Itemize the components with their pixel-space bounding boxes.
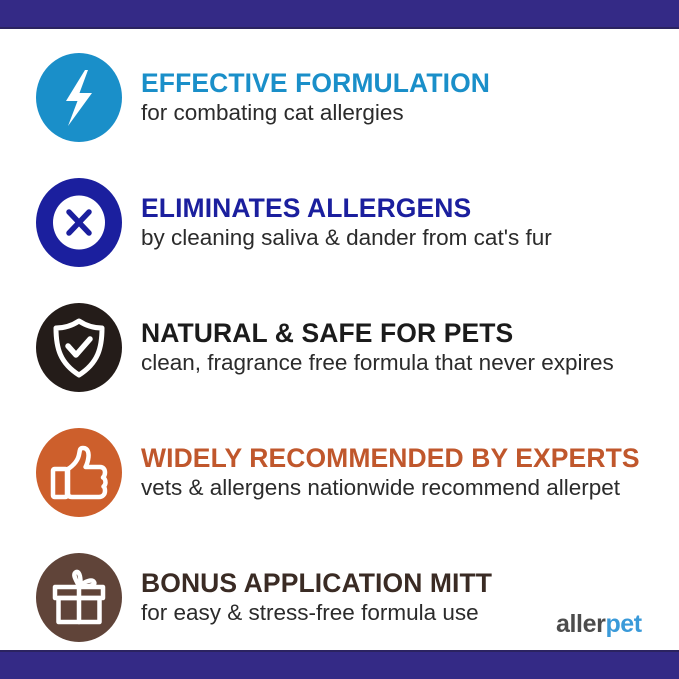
feature-icon-container [0, 410, 122, 535]
feature-row-effective-formulation: EFFECTIVE FORMULATION for combating cat … [0, 35, 679, 160]
feature-icon-container [0, 285, 122, 410]
feature-headline: EFFECTIVE FORMULATION [141, 69, 679, 97]
brand-logo-primary: aller [556, 610, 605, 638]
feature-text-container: WIDELY RECOMMENDED BY EXPERTS vets & all… [122, 444, 679, 501]
brand-logo-secondary: pet [605, 610, 641, 638]
brand-logo: allerpet [556, 612, 642, 637]
feature-headline: WIDELY RECOMMENDED BY EXPERTS [141, 444, 679, 472]
feature-icon-container [0, 35, 122, 160]
top-accent-bar [0, 0, 679, 27]
circle-x-icon [36, 178, 122, 267]
feature-row-natural-and-safe: NATURAL & SAFE FOR PETS clean, fragrance… [0, 285, 679, 410]
feature-row-widely-recommended: WIDELY RECOMMENDED BY EXPERTS vets & all… [0, 410, 679, 535]
bottom-accent-bar [0, 652, 679, 679]
lightning-bolt-icon [36, 53, 122, 142]
feature-icon-container [0, 160, 122, 285]
feature-subline: for combating cat allergies [141, 100, 679, 126]
feature-row-eliminates-allergens: ELIMINATES ALLERGENS by cleaning saliva … [0, 160, 679, 285]
feature-subline: by cleaning saliva & dander from cat's f… [141, 225, 679, 251]
shield-check-icon [36, 303, 122, 392]
feature-text-container: ELIMINATES ALLERGENS by cleaning saliva … [122, 194, 679, 251]
feature-text-container: NATURAL & SAFE FOR PETS clean, fragrance… [122, 319, 679, 376]
feature-headline: ELIMINATES ALLERGENS [141, 194, 679, 222]
feature-icon-container [0, 535, 122, 660]
feature-subline: vets & allergens nationwide recommend al… [141, 475, 679, 501]
product-feature-poster: EFFECTIVE FORMULATION for combating cat … [0, 0, 679, 679]
feature-headline: NATURAL & SAFE FOR PETS [141, 319, 679, 347]
feature-row-bonus-mitt: BONUS APPLICATION MITT for easy & stress… [0, 535, 679, 660]
gift-box-icon [36, 553, 122, 642]
feature-list: EFFECTIVE FORMULATION for combating cat … [0, 29, 679, 650]
feature-headline: BONUS APPLICATION MITT [141, 569, 679, 597]
feature-text-container: EFFECTIVE FORMULATION for combating cat … [122, 69, 679, 126]
thumbs-up-icon [36, 428, 122, 517]
feature-subline: clean, fragrance free formula that never… [141, 350, 679, 376]
